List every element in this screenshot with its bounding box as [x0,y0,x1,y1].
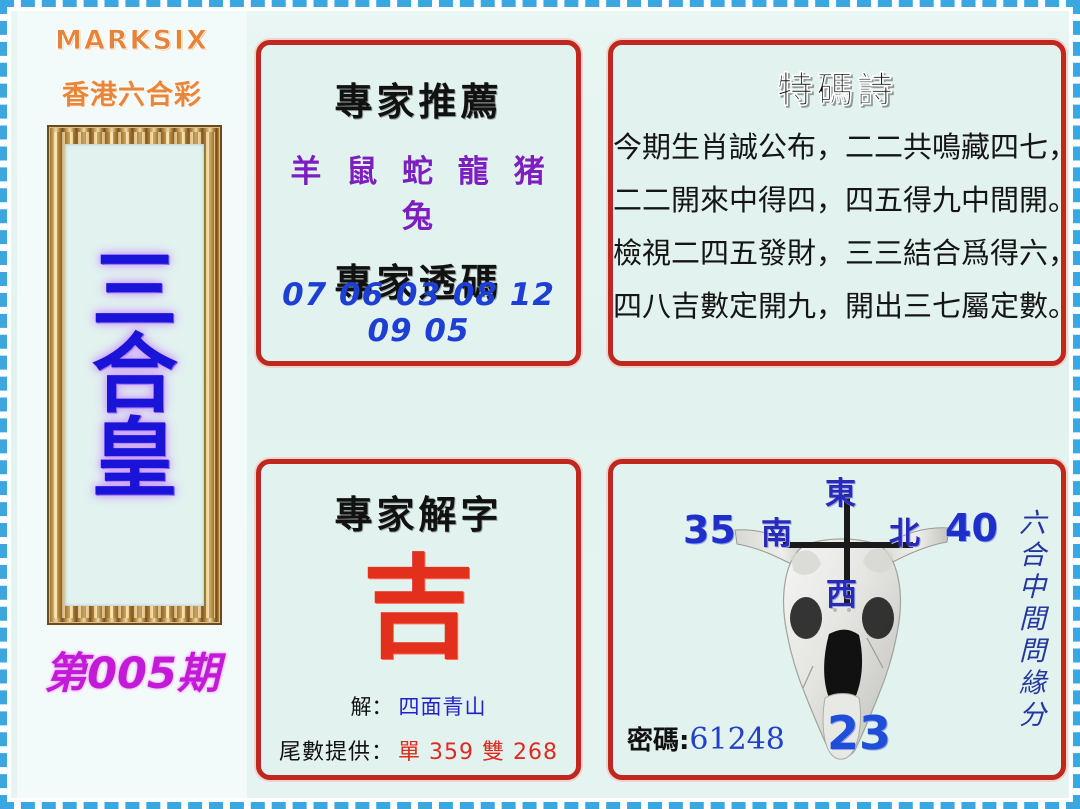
panel-special-number-poem: 特碼詩 今期生肖誠公布，二二共鳴藏四七， 二二開來中得四，四五得九中間開。 檢視… [608,40,1066,366]
tail-numbers-row: 尾數提供：單 359 雙 268 [261,734,576,766]
panel-expert-word: 專家解字 吉 解：四面青山 尾數提供：單 359 雙 268 [256,459,581,780]
brand-column: MARKSIX 香港六合彩 三 合 皇 第005期 [17,11,247,798]
brand-chinese-title: 香港六合彩 [17,73,247,112]
expert-numbers-list: 07 06 03 08 12 09 05 [261,277,576,349]
skull-number-bottom: 23 [827,706,891,760]
page-inner: MARKSIX 香港六合彩 三 合 皇 第005期 專家推薦 羊 鼠 蛇 龍 猪… [11,11,1069,798]
scroll-char-3: 皇 [92,417,178,501]
lucky-character: 吉 [261,553,576,665]
zodiac-item-5[interactable]: 猪 [514,154,547,190]
scroll-inner-panel: 三 合 皇 [65,144,204,606]
direction-east-label: 東 [825,468,856,513]
zodiac-row: 羊 鼠 蛇 龍 猪 兔 [261,146,576,236]
zodiac-item-4[interactable]: 龍 [458,154,491,190]
direction-south-label: 南 [761,508,792,553]
scroll-char-2: 合 [92,333,178,417]
panel-skull-compass: 東 南 西 北 35 40 23 六合中間問緣分 密碼:61248 [608,459,1066,780]
word-explanation-value: 四面青山 [399,695,487,719]
ornate-scroll-frame: 三 合 皇 [47,125,222,625]
tail-numbers-label: 尾數提供： [279,740,394,765]
skull-number-left: 35 [683,508,736,552]
poem-title: 特碼詩 [613,61,1061,113]
zodiac-item-2[interactable]: 鼠 [346,154,379,190]
skull-vertical-slogan: 六合中間問緣分 [1005,508,1045,732]
tail-numbers-value: 單 359 雙 268 [398,740,558,765]
word-explanation-row: 解：四面青山 [261,691,576,721]
direction-west-label: 西 [826,569,857,614]
poem-line-3: 檢視二四五發財，三三結合爲得六， [613,230,1061,272]
poem-line-1: 今期生肖誠公布，二二共鳴藏四七， [613,124,1061,166]
word-explanation-label: 解： [351,695,393,719]
skull-stage: 東 南 西 北 35 40 23 六合中間問緣分 密碼:61248 [613,464,1061,775]
poem-line-2: 二二開來中得四，四五得九中間開。 [613,177,1061,219]
zodiac-item-3[interactable]: 蛇 [402,154,435,190]
zodiac-item-1[interactable]: 羊 [290,154,323,190]
scroll-char-1: 三 [92,249,178,333]
password-row: 密碼:61248 [627,720,785,757]
password-value: 61248 [689,722,784,757]
issue-number-label: 第005期 [17,639,247,701]
brand-latin-title: MARKSIX [17,25,247,56]
skull-number-right: 40 [945,506,998,550]
expert-tips-title: 專家推薦 [261,71,576,126]
expert-word-title: 專家解字 [261,484,576,539]
poem-line-4: 四八吉數定開九，開出三七屬定數。 [613,283,1061,325]
direction-north-label: 北 [889,508,920,553]
zodiac-item-6[interactable]: 兔 [402,199,435,235]
password-label: 密碼: [627,726,689,756]
panel-expert-tips: 專家推薦 羊 鼠 蛇 龍 猪 兔 專家透碼 07 06 03 08 12 09 … [256,40,581,366]
page-root: MARKSIX 香港六合彩 三 合 皇 第005期 專家推薦 羊 鼠 蛇 龍 猪… [0,0,1080,809]
